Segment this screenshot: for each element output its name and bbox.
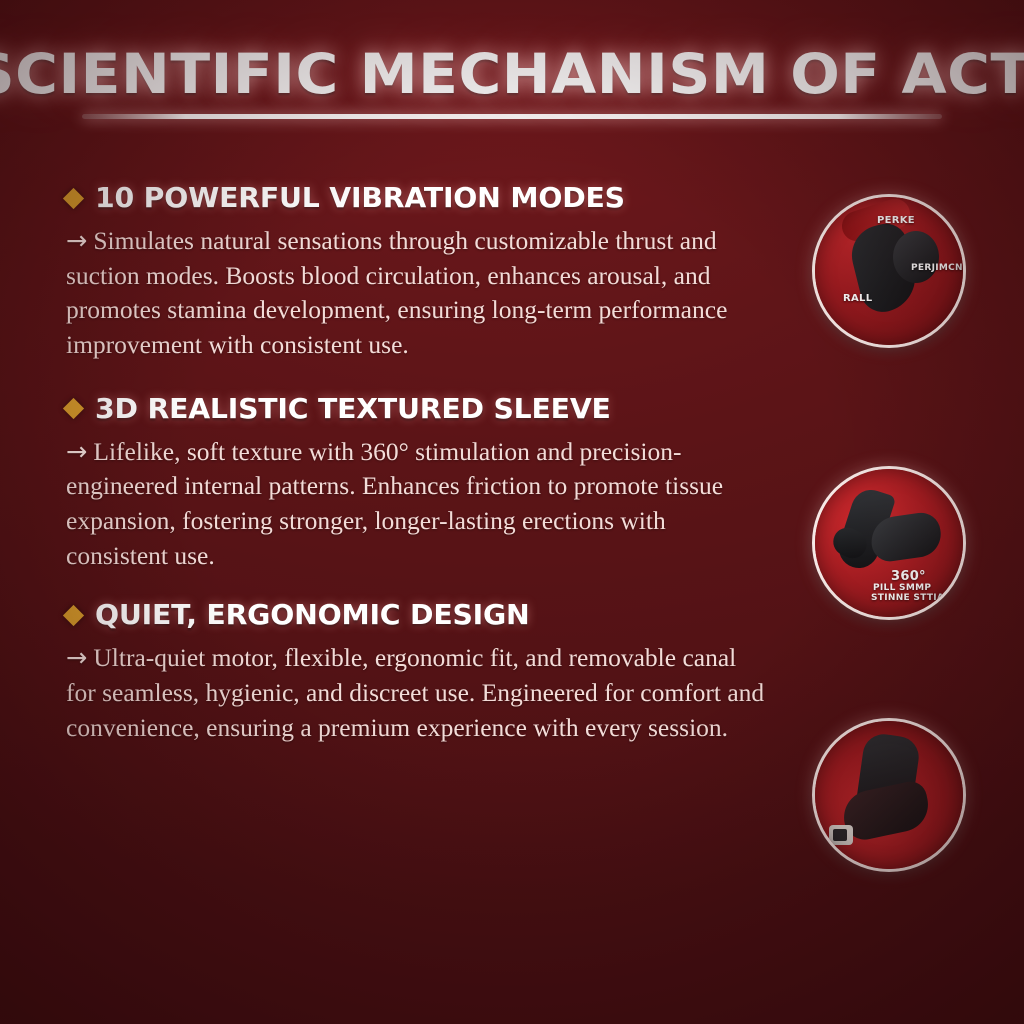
feature-heading-row-1: 10 POWERFUL VIBRATION MODES: [66, 182, 766, 214]
feature-body-text-2: Lifelike, soft texture with 360° stimula…: [66, 437, 723, 570]
photo-label-2c: STINNE STTIAD: [871, 593, 952, 603]
photo-label-1a: PERKE: [877, 215, 915, 226]
feature-block-2: 3D REALISTIC TEXTURED SLEEVE →Lifelike, …: [66, 393, 766, 574]
feature-body-text-3: Ultra-quiet motor, flexible, ergonomic f…: [66, 643, 764, 741]
feature-body-1: →Simulates natural sensations through cu…: [66, 224, 766, 363]
poster: SCIENTIFIC MECHANISM OF ACTION 10 POWERF…: [0, 0, 1024, 1024]
title-underline: [82, 114, 942, 119]
feature-heading-row-3: QUIET, ERGONOMIC DESIGN: [66, 599, 766, 631]
photo-label-1c: RALL: [843, 293, 872, 304]
arrow-icon: →: [66, 226, 87, 256]
feature-heading-row-2: 3D REALISTIC TEXTURED SLEEVE: [66, 393, 766, 425]
arrow-icon: →: [66, 437, 87, 467]
photo-label-2a: 360°: [891, 569, 926, 584]
arrow-icon: →: [66, 643, 87, 673]
feature-heading-2: 3D REALISTIC TEXTURED SLEEVE: [95, 393, 611, 425]
photo-label-1b: PERJIMCN: [911, 263, 963, 273]
feature-heading-1: 10 POWERFUL VIBRATION MODES: [95, 182, 625, 214]
feature-block-1: 10 POWERFUL VIBRATION MODES →Simulates n…: [66, 182, 766, 363]
photo-shape: [833, 829, 847, 841]
product-photo-1: PERKE PERJIMCN RALL: [812, 194, 966, 348]
feature-body-3: →Ultra-quiet motor, flexible, ergonomic …: [66, 641, 766, 745]
photo-label-2b: PILL SMMP: [873, 583, 931, 593]
diamond-bullet-icon: [63, 398, 84, 419]
diamond-bullet-icon: [63, 605, 84, 626]
feature-heading-3: QUIET, ERGONOMIC DESIGN: [95, 599, 530, 631]
product-photo-3: [812, 718, 966, 872]
page-title: SCIENTIFIC MECHANISM OF ACTION: [0, 42, 1024, 114]
features-list: 10 POWERFUL VIBRATION MODES →Simulates n…: [66, 182, 766, 775]
photo-shape: [893, 231, 939, 283]
title-block: SCIENTIFIC MECHANISM OF ACTION: [0, 42, 1024, 119]
diamond-bullet-icon: [63, 187, 84, 208]
feature-block-3: QUIET, ERGONOMIC DESIGN →Ultra-quiet mot…: [66, 599, 766, 745]
feature-body-text-1: Simulates natural sensations through cus…: [66, 226, 727, 359]
feature-body-2: →Lifelike, soft texture with 360° stimul…: [66, 435, 766, 574]
product-photo-2: 360° PILL SMMP STINNE STTIAD: [812, 466, 966, 620]
